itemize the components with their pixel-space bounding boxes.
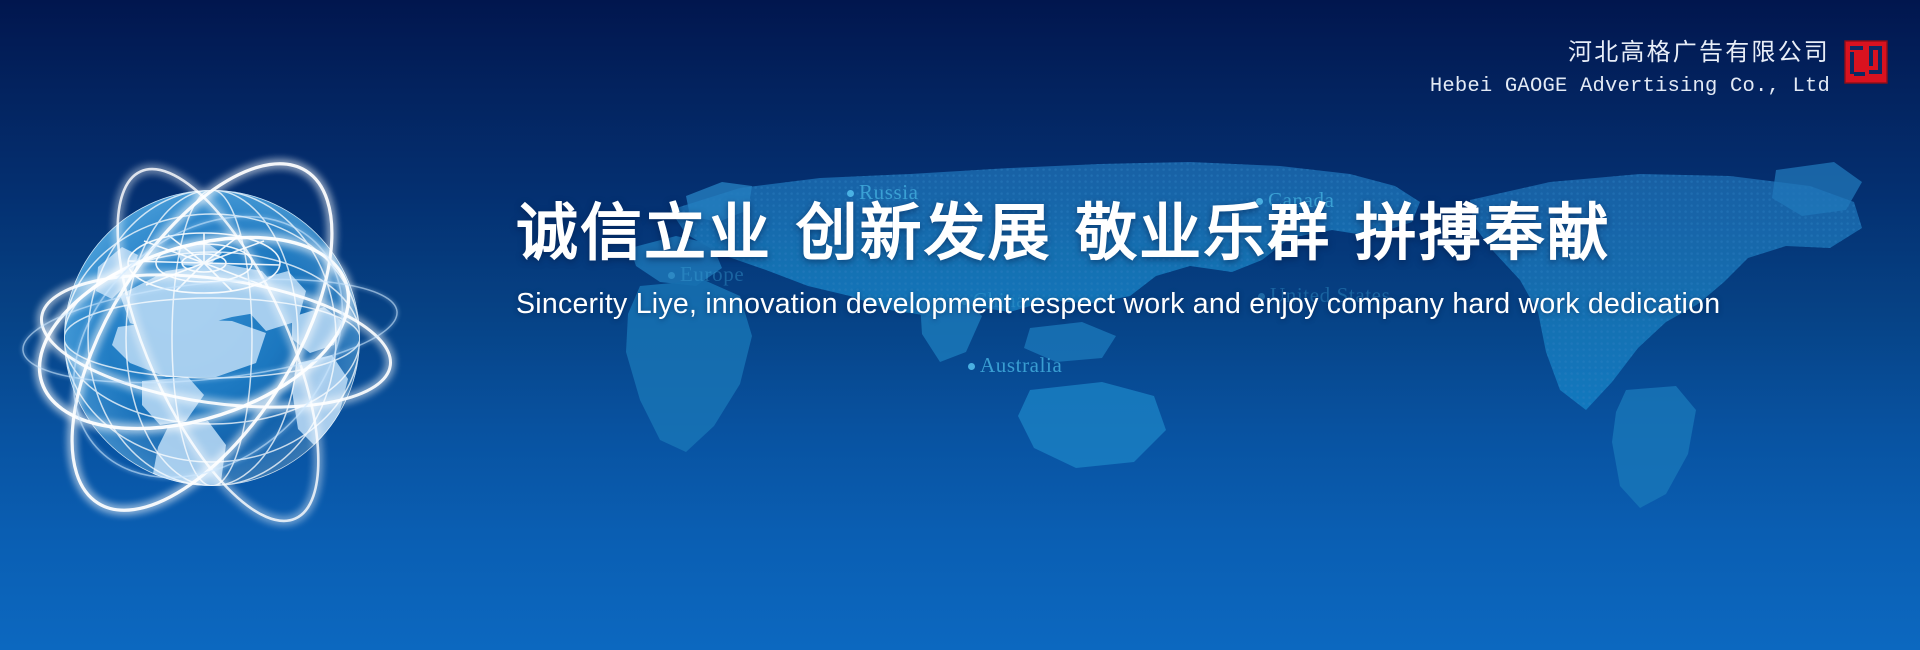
company-header: 河北高格广告有限公司 Hebei GAOGE Advertising Co., … xyxy=(1430,36,1888,100)
company-name-cn: 河北高格广告有限公司 xyxy=(1430,38,1830,69)
map-label-australia: Australia xyxy=(968,353,1062,378)
slogan-chinese: 诚信立业 创新发展 敬业乐群 拼搏奉献 xyxy=(516,196,1846,269)
company-name-group: 河北高格广告有限公司 Hebei GAOGE Advertising Co., … xyxy=(1430,36,1830,100)
map-pin-dot-icon xyxy=(968,363,975,370)
company-name-en: Hebei GAOGE Advertising Co., Ltd xyxy=(1430,74,1830,100)
map-label-text: Australia xyxy=(980,353,1062,377)
slogan-english: Sincerity Liye, innovation development r… xyxy=(516,288,1846,321)
gaoge-logo-icon xyxy=(1844,40,1888,84)
globe-graphic xyxy=(0,95,450,575)
slogan-block: 诚信立业 创新发展 敬业乐群 拼搏奉献 Sincerity Liye, inno… xyxy=(516,196,1846,321)
banner-root: Russia Canada Europe China United States… xyxy=(0,0,1920,650)
